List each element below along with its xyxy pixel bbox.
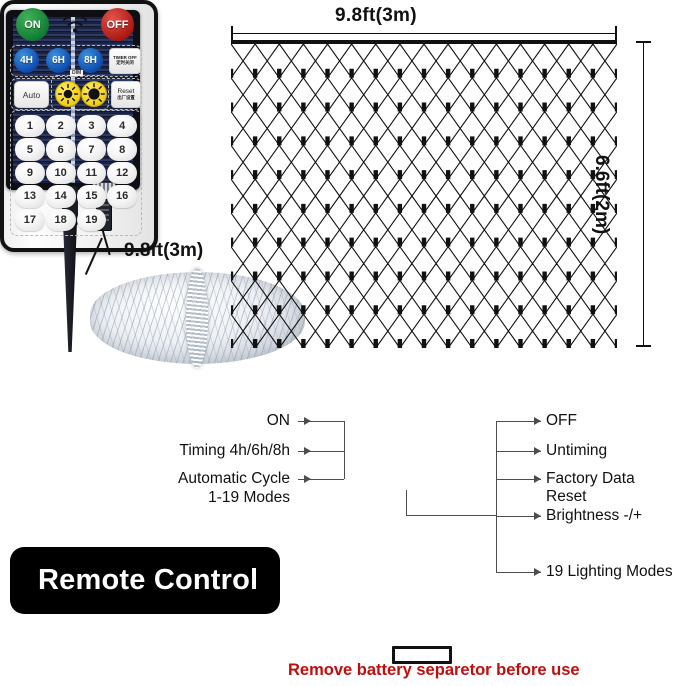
timer-8h-label: 8H — [84, 55, 97, 66]
auto-mode-button[interactable]: Auto — [14, 81, 49, 108]
brightness-up-button[interactable] — [81, 81, 107, 107]
mode-key-13[interactable]: 13 — [15, 185, 45, 207]
power-off-label: OFF — [107, 19, 129, 31]
net-height-tick-top — [636, 41, 651, 43]
callout-right-untiming: Untiming — [546, 442, 607, 460]
mode-key-9[interactable]: 9 — [15, 162, 45, 184]
power-on-button[interactable]: ON — [16, 8, 49, 41]
net-height-dimension-line — [643, 41, 644, 347]
mode-key-17[interactable]: 17 — [15, 209, 45, 231]
leader-spine-right — [496, 421, 497, 573]
mode-key-10[interactable]: 10 — [46, 162, 76, 184]
net-width-tick-right — [615, 26, 617, 41]
factory-reset-button[interactable]: Reset 出厂设置 — [111, 81, 141, 108]
reset-label-cn: 出厂设置 — [117, 96, 135, 101]
timer-4h-button[interactable]: 4H — [14, 48, 39, 73]
mode-key-3[interactable]: 3 — [77, 115, 107, 137]
timer-off-button[interactable]: TIMER OFF 定时关闭 — [109, 48, 141, 74]
arrow-brightness — [534, 512, 541, 520]
net-width-dimension-line — [231, 33, 617, 34]
mode-key-14[interactable]: 14 — [46, 185, 76, 207]
ground-stake-spike — [63, 222, 77, 352]
dim-group-label: DIM — [70, 70, 83, 76]
arrow-factory-reset — [534, 475, 541, 483]
timer-off-label-cn: 定时关闭 — [116, 61, 134, 66]
arrow-timing — [304, 447, 311, 455]
timer-6h-label: 6H — [52, 55, 65, 66]
mode-key-6[interactable]: 6 — [46, 138, 76, 160]
mode-key-12[interactable]: 12 — [107, 162, 137, 184]
leader-dim-run — [406, 515, 497, 516]
callout-left-timing: Timing 4h/6h/8h — [140, 442, 290, 460]
leader-spine-left — [344, 421, 345, 479]
mode-key-18[interactable]: 18 — [46, 209, 76, 231]
wire-coil-tie — [186, 268, 208, 368]
arrow-auto-cycle — [304, 475, 311, 483]
arrow-on — [304, 417, 311, 425]
timer-6h-button[interactable]: 6H — [46, 48, 71, 73]
net-light-mesh — [231, 40, 617, 348]
net-top-rail — [231, 40, 617, 44]
callout-right-lighting-modes: 19 Lighting Modes — [546, 563, 673, 581]
mode-key-11[interactable]: 11 — [77, 162, 107, 184]
infographic-canvas: 9.8ft(3m) 6.6ft(2m) 9.8ft(3m) ON Timin — [0, 0, 679, 686]
battery-warning-text: Remove battery separetor before use — [288, 661, 580, 680]
callout-right-factory-reset: Factory Data Reset — [546, 470, 679, 506]
sun-large-icon — [82, 82, 106, 106]
auto-mode-label: Auto — [23, 90, 41, 100]
callout-left-modes-range: 1-19 Modes — [140, 489, 290, 507]
mode-key-8[interactable]: 8 — [107, 138, 137, 160]
net-width-tick-left — [231, 26, 233, 41]
mode-key-2[interactable]: 2 — [46, 115, 76, 137]
power-off-button[interactable]: OFF — [101, 8, 134, 41]
remote-control-banner-label: Remote Control — [10, 564, 258, 597]
dim-button-group: Auto DIM — [10, 78, 142, 110]
mode-key-7[interactable]: 7 — [77, 138, 107, 160]
mode-key-15[interactable]: 15 — [77, 185, 107, 207]
arrow-lighting-modes — [534, 568, 541, 576]
mode-key-placeholder — [107, 209, 137, 231]
mode-keypad-group: 12345678910111213141516171819 — [10, 110, 142, 236]
callout-left-auto-cycle: Automatic Cycle — [140, 470, 290, 488]
leader-dim-stub — [406, 490, 407, 516]
arrow-off — [534, 417, 541, 425]
mode-key-19[interactable]: 19 — [77, 209, 107, 231]
mode-key-4[interactable]: 4 — [107, 115, 137, 137]
sun-small-icon — [56, 82, 80, 106]
arrow-untiming — [534, 447, 541, 455]
callout-right-off: OFF — [546, 412, 577, 430]
mode-key-5[interactable]: 5 — [15, 138, 45, 160]
net-width-dimension-label: 9.8ft(3m) — [335, 5, 417, 27]
power-on-label: ON — [24, 19, 41, 31]
lead-wire-dimension-label: 9.8ft(3m) — [124, 240, 203, 262]
remote-control-banner: Remote Control — [10, 547, 280, 614]
mode-keypad: 12345678910111213141516171819 — [15, 115, 137, 231]
mode-key-16[interactable]: 16 — [107, 185, 137, 207]
brightness-down-button[interactable] — [55, 81, 81, 107]
timer-4h-label: 4H — [20, 55, 33, 66]
mode-key-1[interactable]: 1 — [15, 115, 45, 137]
callout-right-brightness: Brightness -/+ — [546, 507, 642, 525]
callout-left-on: ON — [180, 412, 290, 430]
net-height-tick-bottom — [636, 345, 651, 347]
dim-pair-outline: DIM — [51, 75, 109, 110]
wifi-icon — [60, 10, 90, 36]
